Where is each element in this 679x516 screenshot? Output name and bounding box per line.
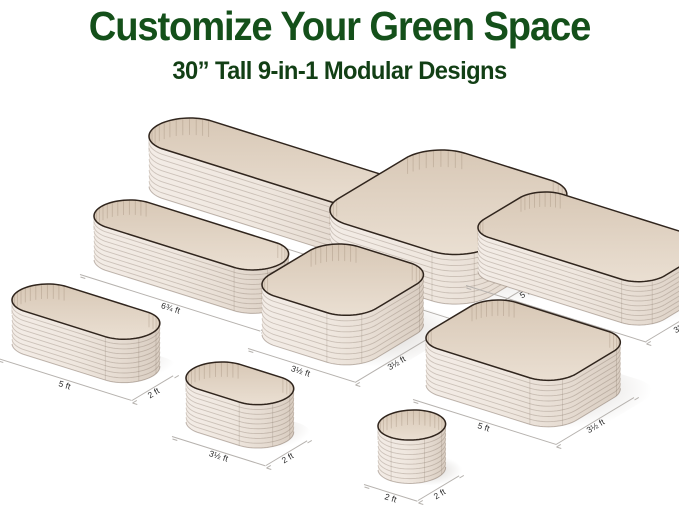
bed-illustration xyxy=(332,364,492,516)
bed-illustration xyxy=(140,316,340,494)
product-infographic: Customize Your Green Space 30” Tall 9-in… xyxy=(0,0,679,516)
page-title: Customize Your Green Space xyxy=(24,4,655,48)
raised-bed-oval-3½ftx2ft[interactable]: 3½ ft2 ft xyxy=(140,316,340,494)
raised-bed-round-2ftx2ft[interactable]: 2 ft2 ft xyxy=(332,364,492,516)
